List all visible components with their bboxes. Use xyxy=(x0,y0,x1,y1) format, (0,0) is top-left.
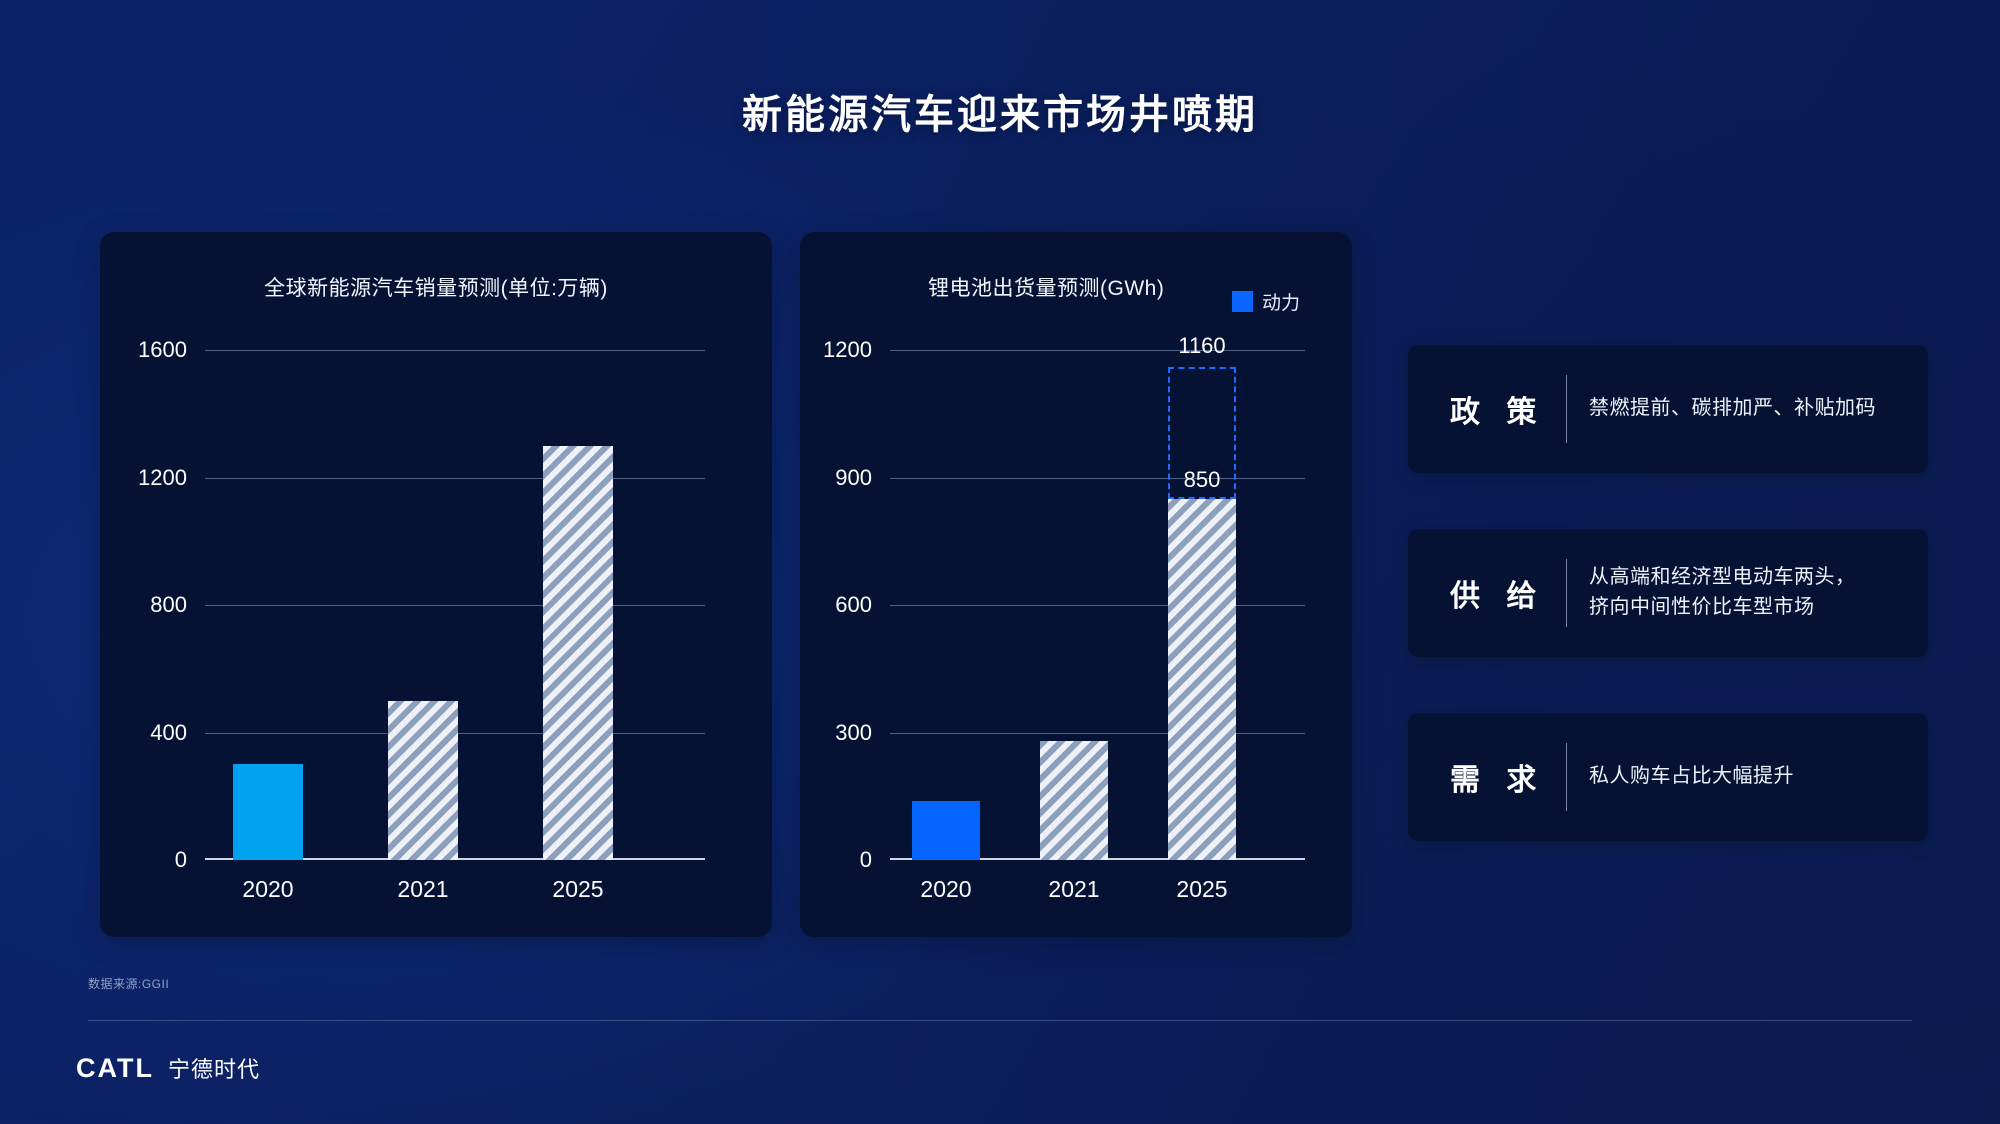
ytick-right-0: 0 xyxy=(860,847,890,873)
bar-r-2020[interactable] xyxy=(912,801,980,861)
xlabel-left-2025: 2025 xyxy=(478,876,678,903)
bar-r-2025[interactable]: 850 1160 xyxy=(1168,499,1236,860)
bar-slot-2020[interactable]: 2020 xyxy=(233,350,303,860)
info-card-key-supply: 供 给 xyxy=(1450,571,1554,615)
bar-chart-global-nev-sales: 1600 1200 800 400 0 2020 2021 2025 xyxy=(205,350,705,860)
ytick-right-600: 600 xyxy=(835,592,890,618)
bar-slot-r-2020[interactable]: 2020 xyxy=(912,350,980,860)
bar-label-850: 850 xyxy=(1184,467,1221,493)
bar-slot-r-2021[interactable]: 2021 xyxy=(1040,350,1108,860)
ytick-left-0: 0 xyxy=(175,847,205,873)
ytick-left-800: 800 xyxy=(150,592,205,618)
info-card-text-supply: 从高端和经济型电动车两头， 挤向中间性价比车型市场 xyxy=(1589,563,1856,622)
bar-slot-2021[interactable]: 2021 xyxy=(388,350,458,860)
ytick-left-1600: 1600 xyxy=(138,337,205,363)
chart-legend-right: 动力 xyxy=(1232,288,1300,315)
source-note: 数据来源:GGII xyxy=(88,975,169,992)
legend-swatch-power-icon xyxy=(1232,291,1253,312)
bar-2025[interactable] xyxy=(543,446,613,860)
slide-canvas: 新能源汽车迎来市场井喷期 全球新能源汽车销量预测(单位:万辆) 1600 120… xyxy=(0,0,2000,1124)
bar-2021[interactable] xyxy=(388,701,458,860)
legend-label-power: 动力 xyxy=(1262,288,1300,315)
info-card-demand[interactable]: 需 求 私人购车占比大幅提升 xyxy=(1408,713,1928,841)
info-card-key-policy: 政 策 xyxy=(1450,387,1554,431)
ytick-left-1200: 1200 xyxy=(138,465,205,491)
bar-chart-li-battery-shipment: 1200 900 600 300 0 2020 2021 850 1160 20… xyxy=(890,350,1305,860)
bar-slot-2025[interactable]: 2025 xyxy=(543,350,613,860)
page-title: 新能源汽车迎来市场井喷期 xyxy=(0,82,2000,140)
info-card-key-demand: 需 求 xyxy=(1450,755,1554,799)
bar-r-2021[interactable] xyxy=(1040,741,1108,860)
info-card-divider xyxy=(1566,743,1567,811)
bar-2020[interactable] xyxy=(233,764,303,860)
info-card-text-policy: 禁燃提前、碳排加严、补贴加码 xyxy=(1589,394,1876,424)
info-card-divider xyxy=(1566,375,1567,443)
info-card-text-demand: 私人购车占比大幅提升 xyxy=(1589,762,1794,792)
brand-logo: CATL 宁德时代 xyxy=(76,1052,260,1084)
ytick-right-300: 300 xyxy=(835,720,890,746)
xlabel-right-2025: 2025 xyxy=(1102,876,1302,903)
info-card-supply[interactable]: 供 给 从高端和经济型电动车两头， 挤向中间性价比车型市场 xyxy=(1408,529,1928,657)
bar-slot-r-2025[interactable]: 850 1160 2025 xyxy=(1168,350,1236,860)
info-card-policy[interactable]: 政 策 禁燃提前、碳排加严、补贴加码 xyxy=(1408,345,1928,473)
ytick-left-400: 400 xyxy=(150,720,205,746)
ytick-right-1200: 1200 xyxy=(823,337,890,363)
bar-label-1160: 1160 xyxy=(1178,333,1225,359)
chart-title-left: 全球新能源汽车销量预测(单位:万辆) xyxy=(100,272,772,302)
logo-catl-mark: CATL xyxy=(76,1053,154,1084)
footer-divider xyxy=(88,1020,1912,1021)
ytick-right-900: 900 xyxy=(835,465,890,491)
logo-company-name: 宁德时代 xyxy=(168,1052,260,1084)
info-card-divider xyxy=(1566,559,1567,627)
